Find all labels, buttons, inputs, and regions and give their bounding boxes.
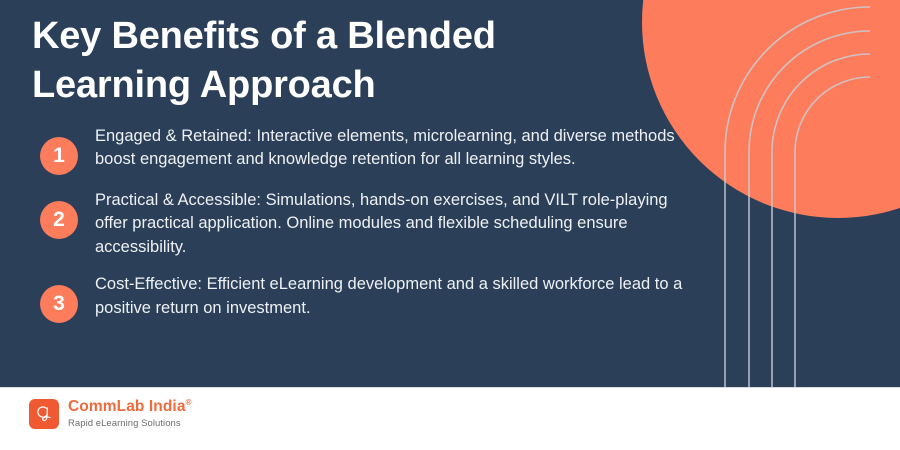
- list-item: 1 Engaged & Retained: Interactive elemen…: [0, 125, 900, 175]
- benefit-text: Practical & Accessible: Simulations, han…: [95, 189, 680, 259]
- benefits-list: 1 Engaged & Retained: Interactive elemen…: [0, 125, 900, 337]
- brand-name-label: CommLab India: [68, 398, 186, 415]
- page-title: Key Benefits of a Blended Learning Appro…: [32, 12, 652, 111]
- brand-logo: CommLab India® Rapid eLearning Solutions: [29, 399, 192, 429]
- benefit-number-badge: 2: [40, 201, 78, 239]
- dark-panel: Key Benefits of a Blended Learning Appro…: [0, 0, 900, 387]
- list-item: 2 Practical & Accessible: Simulations, h…: [0, 189, 900, 259]
- benefit-number-badge: 3: [40, 285, 78, 323]
- registered-mark: ®: [186, 398, 192, 407]
- slide-canvas: Key Benefits of a Blended Learning Appro…: [0, 0, 900, 450]
- footer-bar: CommLab India® Rapid eLearning Solutions: [0, 387, 900, 450]
- benefit-text: Cost-Effective: Efficient eLearning deve…: [95, 273, 695, 320]
- benefit-number-badge: 1: [40, 137, 78, 175]
- brand-tagline: Rapid eLearning Solutions: [68, 419, 192, 429]
- brand-text-block: CommLab India® Rapid eLearning Solutions: [68, 399, 192, 429]
- brand-name: CommLab India®: [68, 399, 192, 415]
- commlab-monogram-icon: [29, 399, 59, 429]
- list-item: 3 Cost-Effective: Efficient eLearning de…: [0, 273, 900, 323]
- benefit-text: Engaged & Retained: Interactive elements…: [95, 125, 695, 172]
